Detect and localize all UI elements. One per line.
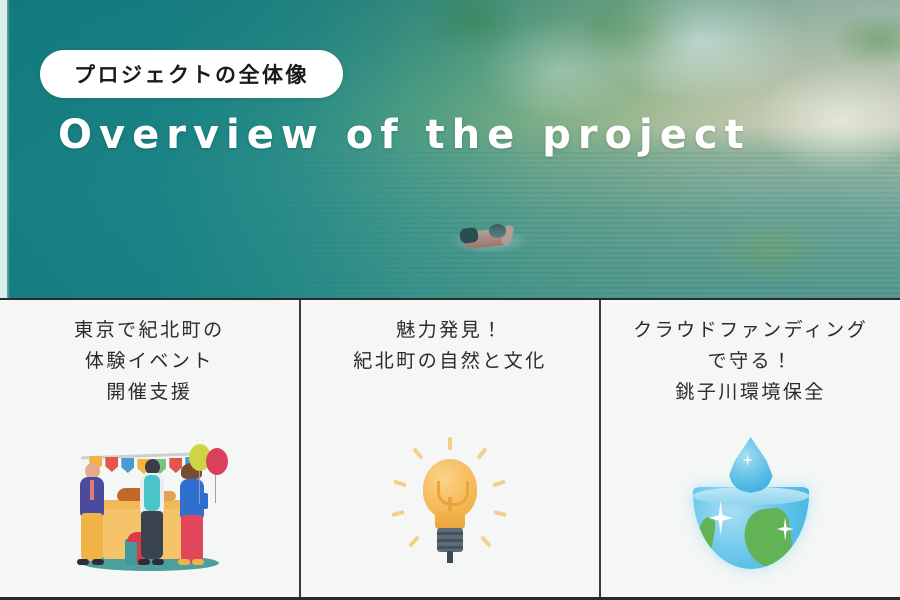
lightbulb-illustration [390, 435, 510, 575]
section-badge-label: プロジェクトの全体像 [74, 59, 309, 89]
hero-left-edge-strip [0, 0, 7, 298]
feature-card-title: 東京で紀北町の 体験イベント 開催支援 [74, 316, 225, 408]
feature-card-event-support[interactable]: 東京で紀北町の 体験イベント 開催支援 [0, 300, 299, 597]
party-people-illustration [59, 440, 239, 575]
feature-card-title: クラウドファンディング で守る！ 銚子川環境保全 [633, 316, 868, 408]
section-badge: プロジェクトの全体像 [40, 50, 343, 98]
hero-left-edge-fade [7, 0, 10, 298]
feature-card-row: 東京で紀北町の 体験イベント 開催支援 [0, 298, 900, 600]
hero-banner: プロジェクトの全体像 Overview of the project [0, 0, 900, 298]
water-drop-globe-illustration [671, 435, 831, 575]
feature-card-nature-culture[interactable]: 魅力発見！ 紀北町の自然と文化 [299, 300, 600, 597]
feature-card-crowdfunding[interactable]: クラウドファンディング で守る！ 銚子川環境保全 [599, 300, 900, 597]
overview-page: プロジェクトの全体像 Overview of the project 東京で紀北… [0, 0, 900, 600]
page-title: Overview of the project [58, 112, 751, 158]
feature-card-title: 魅力発見！ 紀北町の自然と文化 [353, 316, 547, 378]
